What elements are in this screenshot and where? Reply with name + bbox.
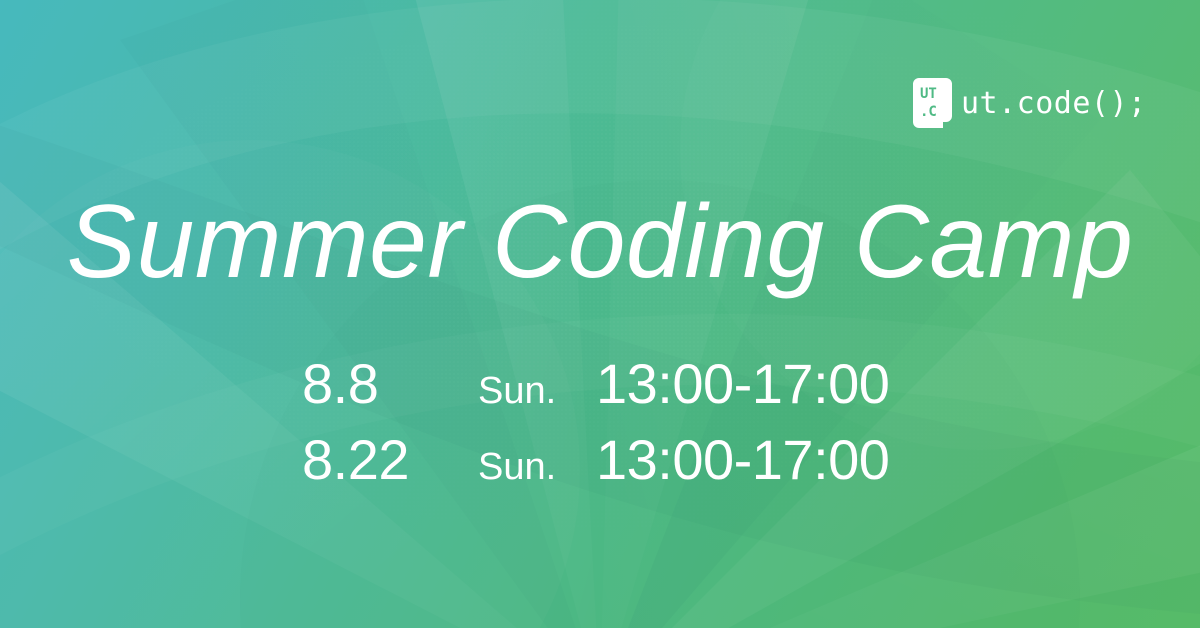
schedule-time: 13:00-17:00 [596, 432, 898, 488]
ut-code-wordmark: ut.code(); [961, 89, 1147, 119]
svg-text:UT: UT [920, 86, 937, 102]
event-title: Summer Coding Camp [0, 181, 1200, 304]
schedule-row: 8.8 Sun. 13:00-17:00 [302, 356, 898, 432]
schedule-date: 8.8 [302, 356, 478, 412]
schedule-list: 8.8 Sun. 13:00-17:00 8.22 Sun. 13:00-17:… [0, 356, 1200, 508]
schedule-weekday: Sun. [478, 372, 596, 410]
ut-code-logo: UT .C ut.code(); [913, 78, 1147, 128]
schedule-time: 13:00-17:00 [596, 356, 898, 412]
schedule-date: 8.22 [302, 432, 478, 488]
svg-text:.C: .C [920, 104, 937, 120]
schedule-weekday: Sun. [478, 448, 596, 486]
ut-code-logo-mark-icon: UT .C [913, 78, 952, 128]
event-banner: UT .C ut.code(); Summer Coding Camp 8.8 … [0, 0, 1200, 628]
schedule-row: 8.22 Sun. 13:00-17:00 [302, 432, 898, 508]
